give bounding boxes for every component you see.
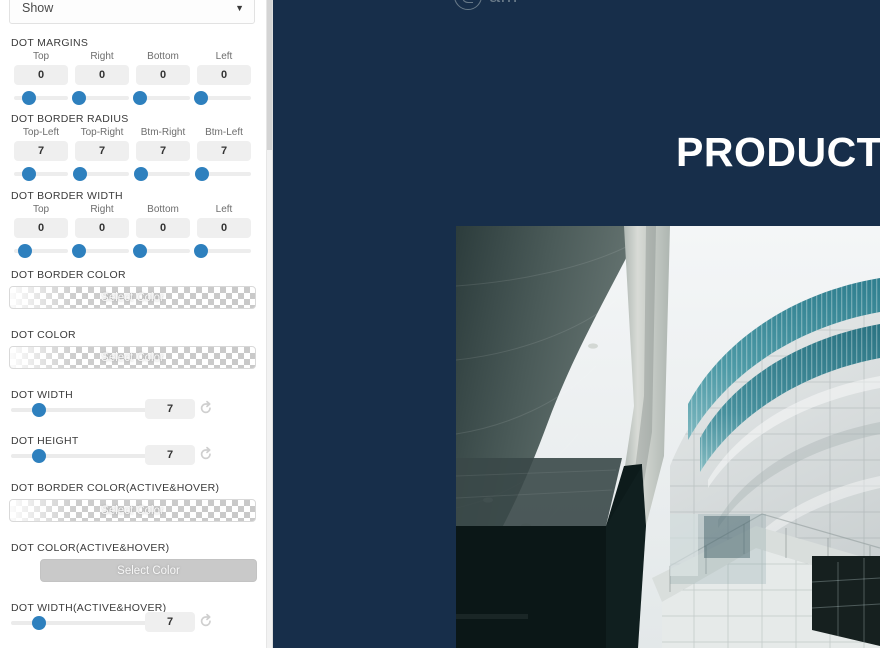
field-value: 7 (14, 141, 68, 161)
dot-border-width-label: DOT BORDER WIDTH (11, 190, 123, 202)
field-caption: Bottom (133, 51, 193, 62)
dot-border-color-label: DOT BORDER COLOR (11, 269, 126, 281)
slider-knob[interactable] (72, 91, 86, 105)
select-color-button-label: Select Color (10, 500, 255, 522)
dot-width-value: 7 (145, 399, 195, 419)
dot-height-value: 7 (145, 445, 195, 465)
field-slider[interactable] (11, 91, 71, 105)
field-value: 0 (197, 218, 251, 238)
slider-knob[interactable] (194, 91, 208, 105)
site-logo[interactable]: am (454, 0, 518, 10)
select-color-button-label: Select Color (10, 347, 255, 369)
field-caption: Right (72, 51, 132, 62)
chevron-down-icon: ▼ (235, 3, 244, 13)
slider-knob[interactable] (32, 449, 46, 463)
field-caption: Top-Right (72, 127, 132, 138)
field-slider[interactable] (72, 244, 132, 258)
field-value: 0 (136, 218, 190, 238)
field-slider[interactable] (194, 91, 254, 105)
logo-mark-icon (454, 0, 482, 10)
field-value: 0 (75, 218, 129, 238)
select-color-button-label: Select Color (41, 560, 256, 582)
preview-area: am PRODUCT (273, 0, 880, 648)
field-caption: Left (194, 204, 254, 215)
architecture-photo (456, 226, 880, 648)
field-value: 7 (197, 141, 251, 161)
field-value: 0 (14, 65, 68, 85)
visibility-select-value: Show (22, 1, 53, 15)
field-value: 0 (197, 65, 251, 85)
select-color-button-label: Select Color (10, 287, 255, 309)
field-slider[interactable] (194, 244, 254, 258)
dot-width-label: DOT WIDTH (11, 389, 73, 401)
dot-margins-label: DOT MARGINS (11, 37, 88, 49)
dot-color-label: DOT COLOR (11, 329, 76, 341)
slider-knob[interactable] (73, 167, 87, 181)
slider-knob[interactable] (32, 403, 46, 417)
visibility-select[interactable]: Show ▼ (9, 0, 255, 24)
field-slider[interactable] (194, 167, 254, 181)
hero-photo (456, 226, 880, 648)
field-value: 0 (136, 65, 190, 85)
dot-border-color-swatch[interactable]: Select Color (9, 286, 256, 309)
dot-width-active-hover-value: 7 (145, 612, 195, 632)
slider-knob[interactable] (195, 167, 209, 181)
dot-color-active-hover-swatch[interactable]: Select Color (40, 559, 257, 582)
field-slider[interactable] (11, 167, 71, 181)
slider-knob[interactable] (32, 616, 46, 630)
field-value: 0 (14, 218, 68, 238)
slider-knob[interactable] (133, 244, 147, 258)
dot-color-active-hover-label: DOT COLOR(ACTIVE&HOVER) (11, 542, 169, 554)
dot-border-radius-label: DOT BORDER RADIUS (11, 113, 129, 125)
slider-knob[interactable] (194, 244, 208, 258)
field-caption: Btm-Right (133, 127, 193, 138)
app-screen: Show ▼ DOT MARGINS Top 0 Right (0, 0, 880, 648)
reset-icon[interactable] (198, 446, 214, 462)
logo-text: am (489, 0, 518, 8)
slider-knob[interactable] (134, 167, 148, 181)
field-value: 7 (136, 141, 190, 161)
field-caption: Top-Left (11, 127, 71, 138)
field-caption: Left (194, 51, 254, 62)
field-value: 0 (75, 65, 129, 85)
slider-knob[interactable] (22, 91, 36, 105)
settings-panel: Show ▼ DOT MARGINS Top 0 Right (0, 0, 266, 648)
slider-knob[interactable] (22, 167, 36, 181)
page-title: PRODUCT (676, 129, 880, 176)
field-slider[interactable] (133, 167, 193, 181)
field-caption: Right (72, 204, 132, 215)
field-caption: Top (11, 51, 71, 62)
reset-icon[interactable] (198, 613, 214, 629)
field-slider[interactable] (72, 91, 132, 105)
slider-knob[interactable] (72, 244, 86, 258)
dot-color-swatch[interactable]: Select Color (9, 346, 256, 369)
dot-width-active-hover-slider[interactable] (11, 615, 151, 631)
dot-height-label: DOT HEIGHT (11, 435, 79, 447)
field-caption: Bottom (133, 204, 193, 215)
slider-knob[interactable] (18, 244, 32, 258)
dot-height-slider[interactable] (11, 448, 151, 464)
field-caption: Btm-Left (194, 127, 254, 138)
field-slider[interactable] (133, 91, 193, 105)
field-caption: Top (11, 204, 71, 215)
dot-width-slider[interactable] (11, 402, 151, 418)
field-slider[interactable] (72, 167, 132, 181)
field-slider[interactable] (11, 244, 71, 258)
dot-border-color-active-hover-swatch[interactable]: Select Color (9, 499, 256, 522)
dot-width-active-hover-label: DOT WIDTH(ACTIVE&HOVER) (11, 602, 166, 614)
slider-knob[interactable] (133, 91, 147, 105)
dot-border-color-active-hover-label: DOT BORDER COLOR(ACTIVE&HOVER) (11, 482, 219, 494)
field-value: 7 (75, 141, 129, 161)
field-slider[interactable] (133, 244, 193, 258)
reset-icon[interactable] (198, 400, 214, 416)
